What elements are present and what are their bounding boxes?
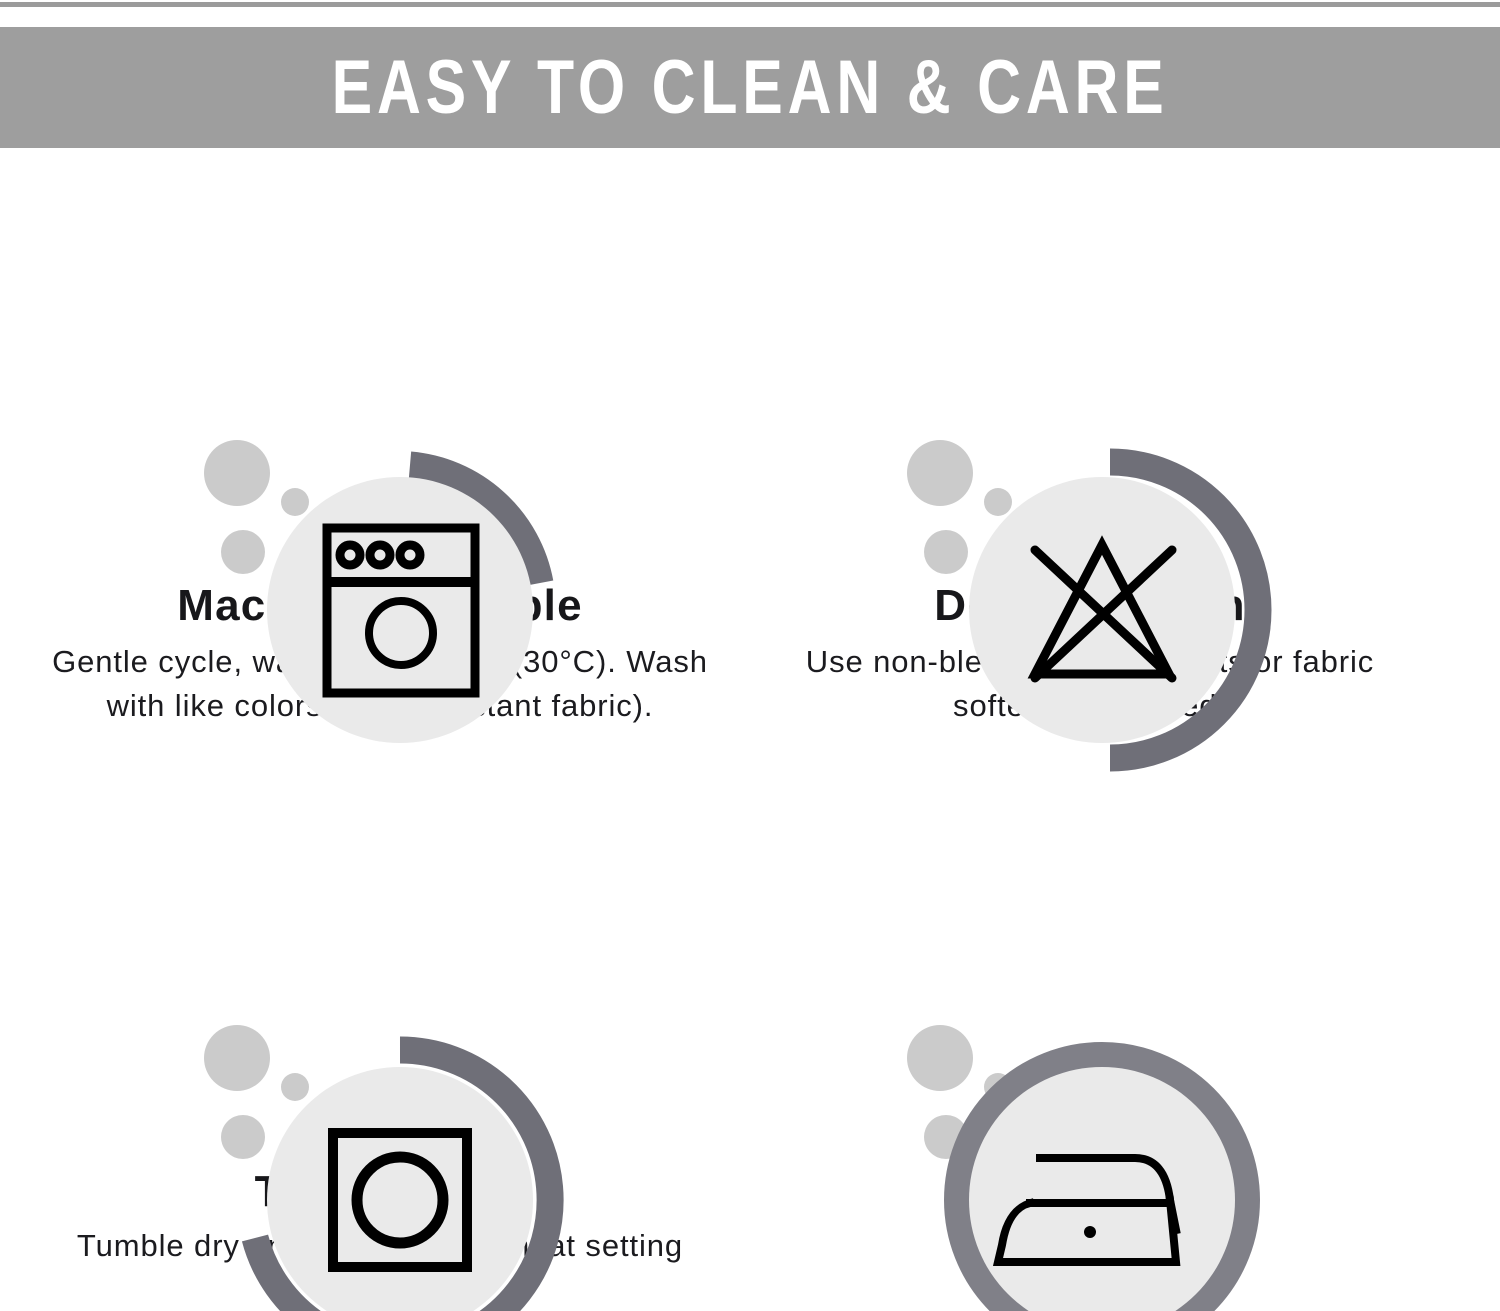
medallion-machine-washable (30, 210, 730, 560)
bubble-large-icon (907, 1025, 973, 1091)
bubble-medium-icon (221, 530, 265, 574)
bubble-large-icon (204, 1025, 270, 1091)
icon-disc (267, 477, 533, 743)
care-card-do-not-bleach: Do not Bleach Use non-bleaching detergen… (740, 210, 1440, 728)
medallion-iron (740, 800, 1440, 1150)
top-hairline-divider (0, 2, 1500, 7)
bubble-large-icon (907, 440, 973, 506)
medallion-tumble-dry (30, 800, 730, 1150)
bubble-medium-icon (924, 530, 968, 574)
page-title: EASY TO CLEAN & CARE (332, 50, 1169, 126)
care-card-tumble-dry: Tumble Dry Tumble dry on low heat or no … (30, 800, 730, 1265)
medallion-do-not-bleach (740, 210, 1440, 560)
bubble-medium-icon (221, 1115, 265, 1159)
care-card-iron: Iron (740, 800, 1440, 1226)
care-instructions-grid: Machine washable Gentle cycle, wash belo… (0, 150, 1500, 1311)
icon-disc (267, 1067, 533, 1311)
bubble-small-icon (281, 1073, 309, 1101)
care-card-machine-washable: Machine washable Gentle cycle, wash belo… (30, 210, 730, 728)
header-banner: EASY TO CLEAN & CARE (0, 27, 1500, 148)
bubble-small-icon (281, 488, 309, 516)
bubble-large-icon (204, 440, 270, 506)
bubble-small-icon (984, 488, 1012, 516)
